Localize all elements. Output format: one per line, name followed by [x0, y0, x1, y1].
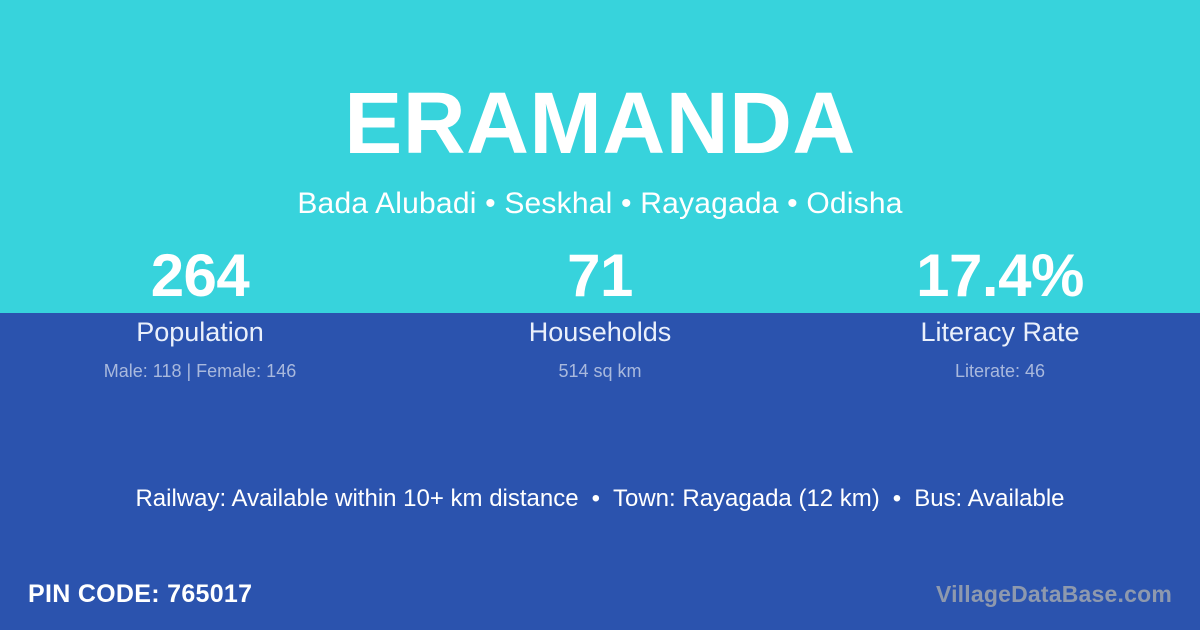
amenity-separator: •	[880, 482, 914, 516]
page-title: ERAMANDA	[0, 0, 1200, 167]
stat-population-label: Population	[0, 312, 400, 349]
village-info-card: ERAMANDA Bada Alubadi • Seskhal • Rayaga…	[0, 0, 1200, 630]
card-header: ERAMANDA Bada Alubadi • Seskhal • Rayaga…	[0, 0, 1200, 219]
site-watermark: VillageDataBase.com	[936, 581, 1172, 608]
stat-households-label: Households	[400, 312, 800, 349]
pin-code: PIN CODE: 765017	[28, 580, 252, 609]
amenities-row: Railway: Available within 10+ km distanc…	[0, 482, 1200, 516]
amenity-town: Town: Rayagada (12 km)	[613, 485, 880, 512]
stat-population-value: 264	[0, 240, 400, 312]
breadcrumb: Bada Alubadi • Seskhal • Rayagada • Odis…	[0, 167, 1200, 219]
stat-literacy-rate-label: Literacy Rate	[800, 312, 1200, 349]
amenity-railway: Railway: Available within 10+ km distanc…	[135, 485, 578, 512]
stat-literate-count: Literate: 46	[800, 349, 1200, 383]
stat-population: 264 Population Male: 118 | Female: 146	[0, 240, 400, 383]
stat-households-area: 514 sq km	[400, 349, 800, 383]
stat-population-breakdown: Male: 118 | Female: 146	[0, 349, 400, 383]
stat-households-value: 71	[400, 240, 800, 312]
stats-row: 264 Population Male: 118 | Female: 146 7…	[0, 240, 1200, 383]
amenity-separator: •	[579, 482, 613, 516]
amenity-bus: Bus: Available	[914, 485, 1064, 512]
card-footer: PIN CODE: 765017 VillageDataBase.com	[0, 558, 1200, 630]
stat-literacy-rate-value: 17.4%	[800, 240, 1200, 312]
stat-literacy-rate: 17.4% Literacy Rate Literate: 46	[800, 240, 1200, 383]
stat-households: 71 Households 514 sq km	[400, 240, 800, 383]
